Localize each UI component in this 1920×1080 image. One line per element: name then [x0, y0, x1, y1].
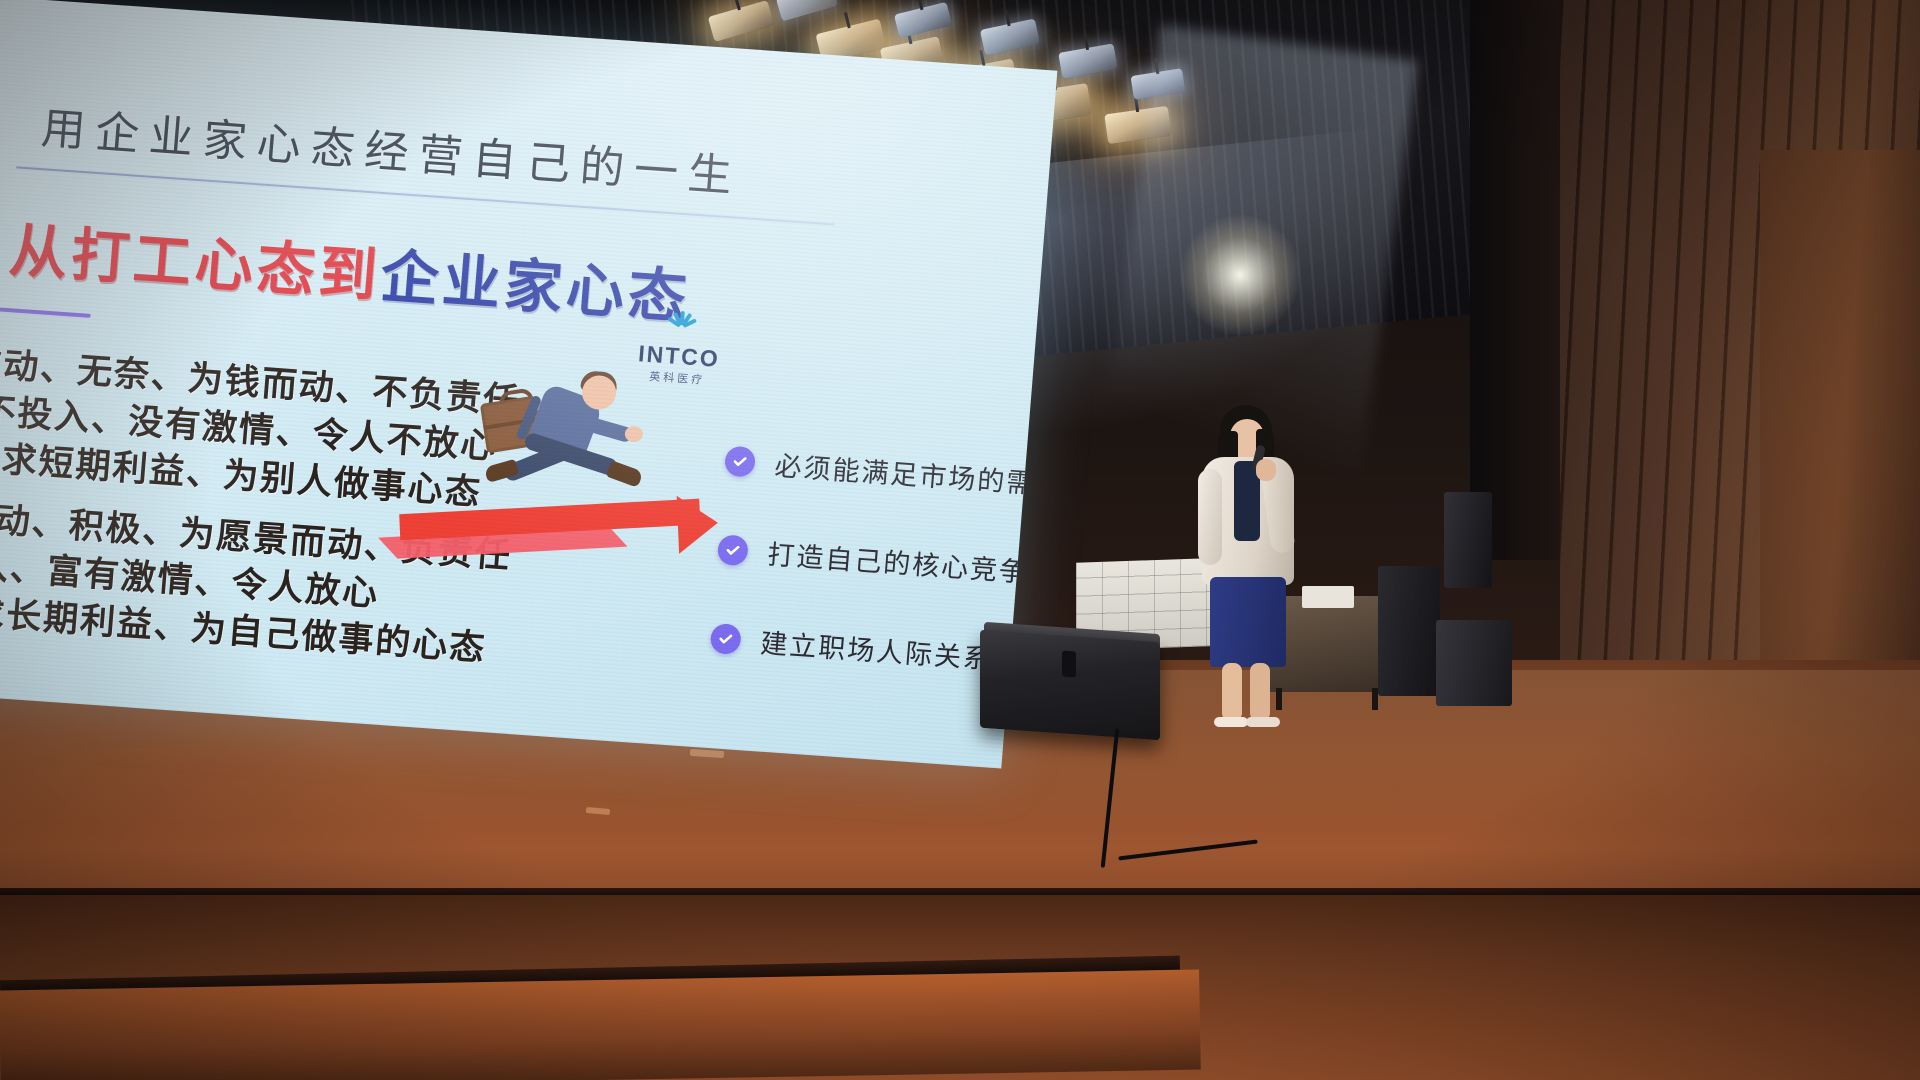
presenter-arm-left	[1198, 469, 1222, 565]
title-red-part: 从打工心态到	[7, 216, 384, 310]
truss-lamp-icon	[1104, 106, 1172, 145]
presenter-shoe-right	[1246, 717, 1280, 727]
speaker-cabinet-lower	[1436, 620, 1512, 706]
list-item: 打造自己的核心竞争力	[716, 529, 1057, 592]
intco-logo: INTCO 英科医疗	[636, 310, 723, 388]
truss-lamp-icon	[1130, 68, 1185, 100]
accent-bar	[0, 307, 91, 318]
spotlight-glow	[1180, 215, 1300, 335]
stage-monitor-handle	[1062, 651, 1076, 678]
truss-lamp-icon	[708, 0, 775, 42]
slide-surface: 用企业家心态经营自己的一生 从打工心态到企业家心态 被动、无奈、为钱而动、不负责…	[0, 0, 1057, 768]
rack-panel	[1302, 586, 1354, 608]
slide-header-text: 用企业家心态经营自己的一生	[39, 92, 744, 205]
red-arrow-head-icon	[677, 494, 719, 554]
truss-lamp-icon	[894, 2, 952, 38]
presenter-leg-right	[1250, 663, 1270, 721]
bullet-label: 必须能满足市场的需求	[773, 444, 1057, 503]
runner-hand	[624, 425, 643, 442]
speaker-cabinet-upper	[1444, 492, 1492, 588]
presenter	[1192, 405, 1302, 730]
list-item: 必须能满足市场的需求	[724, 441, 1058, 504]
bullet-label: 建立职场人际关系	[759, 621, 994, 676]
bullet-label: 打造自己的核心竞争力	[766, 533, 1057, 592]
page-title: 从打工心态到企业家心态	[7, 203, 694, 334]
runner-illustration	[384, 356, 752, 610]
presenter-leg-left	[1222, 663, 1242, 721]
truss-lamp-icon	[980, 18, 1040, 55]
stage-monitor-wedge	[980, 630, 1160, 741]
check-circle-icon	[710, 622, 742, 654]
screenshot-root: 用企业家心态经营自己的一生 从打工心态到企业家心态 被动、无奈、为钱而动、不负责…	[0, 0, 1920, 1080]
presenter-hand	[1256, 459, 1276, 481]
check-circle-icon	[724, 445, 756, 477]
logo-burst-icon	[660, 312, 702, 343]
check-circle-icon	[717, 534, 749, 566]
truss-lamp-icon	[776, 0, 838, 22]
presenter-shoe-left	[1214, 717, 1248, 727]
runner-shoe-front	[606, 460, 644, 488]
speaker-cabinet	[1378, 566, 1440, 696]
projection-screen: 用企业家心态经营自己的一生 从打工心态到企业家心态 被动、无奈、为钱而动、不负责…	[0, 0, 1087, 810]
presenter-skirt	[1210, 577, 1286, 667]
